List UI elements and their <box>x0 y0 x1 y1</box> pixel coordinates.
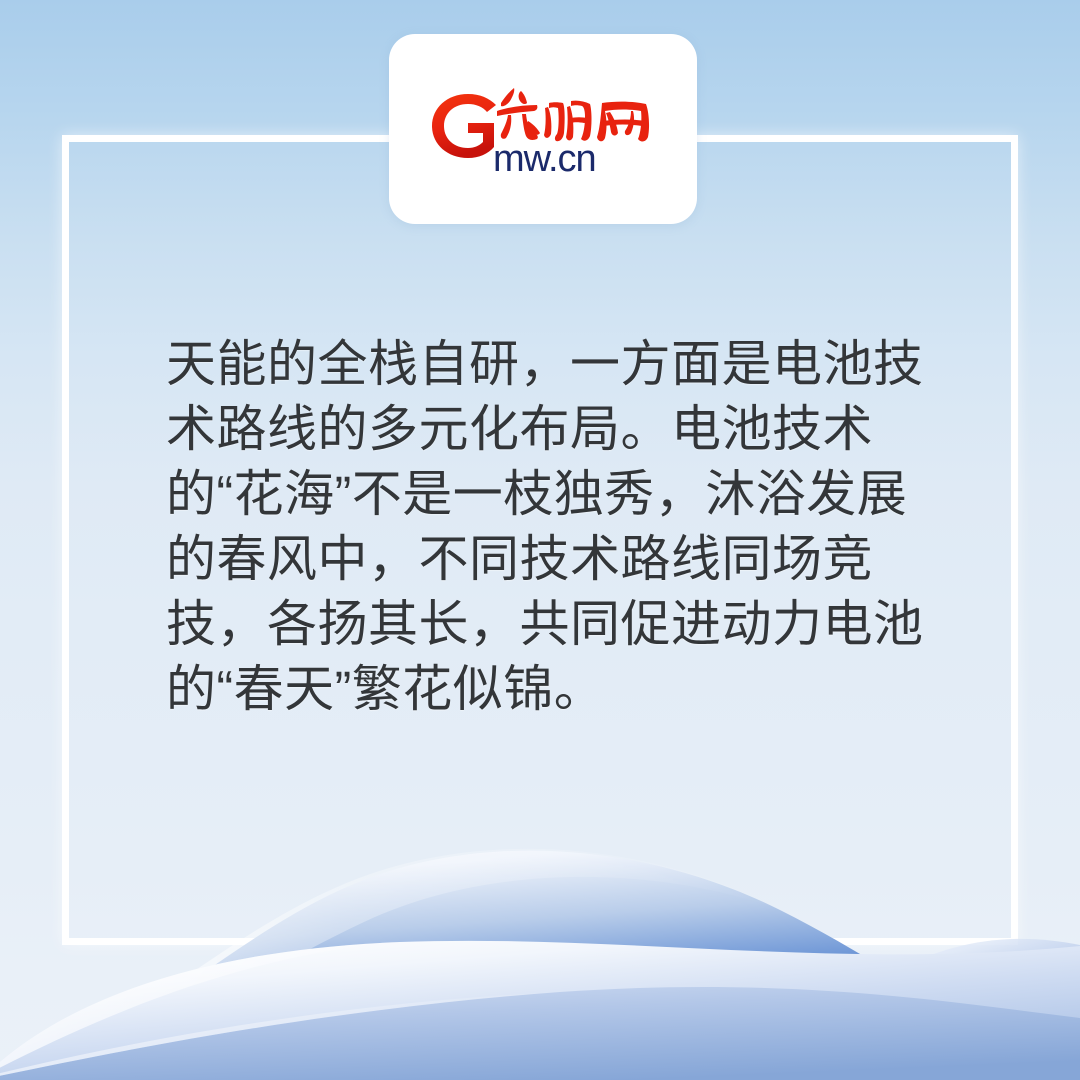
logo-g-mark <box>432 94 496 158</box>
dune-mid-highlight <box>0 942 400 1080</box>
logo-brand-name-cn <box>497 88 649 141</box>
svg-text:mw.cn: mw.cn <box>493 138 596 177</box>
gmw-logo-svg: mw.cn <box>427 81 659 177</box>
logo-domain-text: mw.cn <box>493 138 596 177</box>
dune-far-right <box>760 939 1080 1080</box>
quote-text: 天能的全栈自研，一方面是电池技术路线的多元化布局。电池技术的“花海”不是一枝独秀… <box>166 332 936 722</box>
dune-mid <box>0 941 1080 1080</box>
gmw-logo: mw.cn <box>427 81 659 177</box>
gmw-logo-card[interactable]: mw.cn <box>389 34 697 224</box>
dune-near <box>0 987 1080 1080</box>
dune-near-highlight <box>0 992 560 1080</box>
poster-canvas: 天能的全栈自研，一方面是电池技术路线的多元化布局。电池技术的“花海”不是一枝独秀… <box>0 0 1080 1080</box>
